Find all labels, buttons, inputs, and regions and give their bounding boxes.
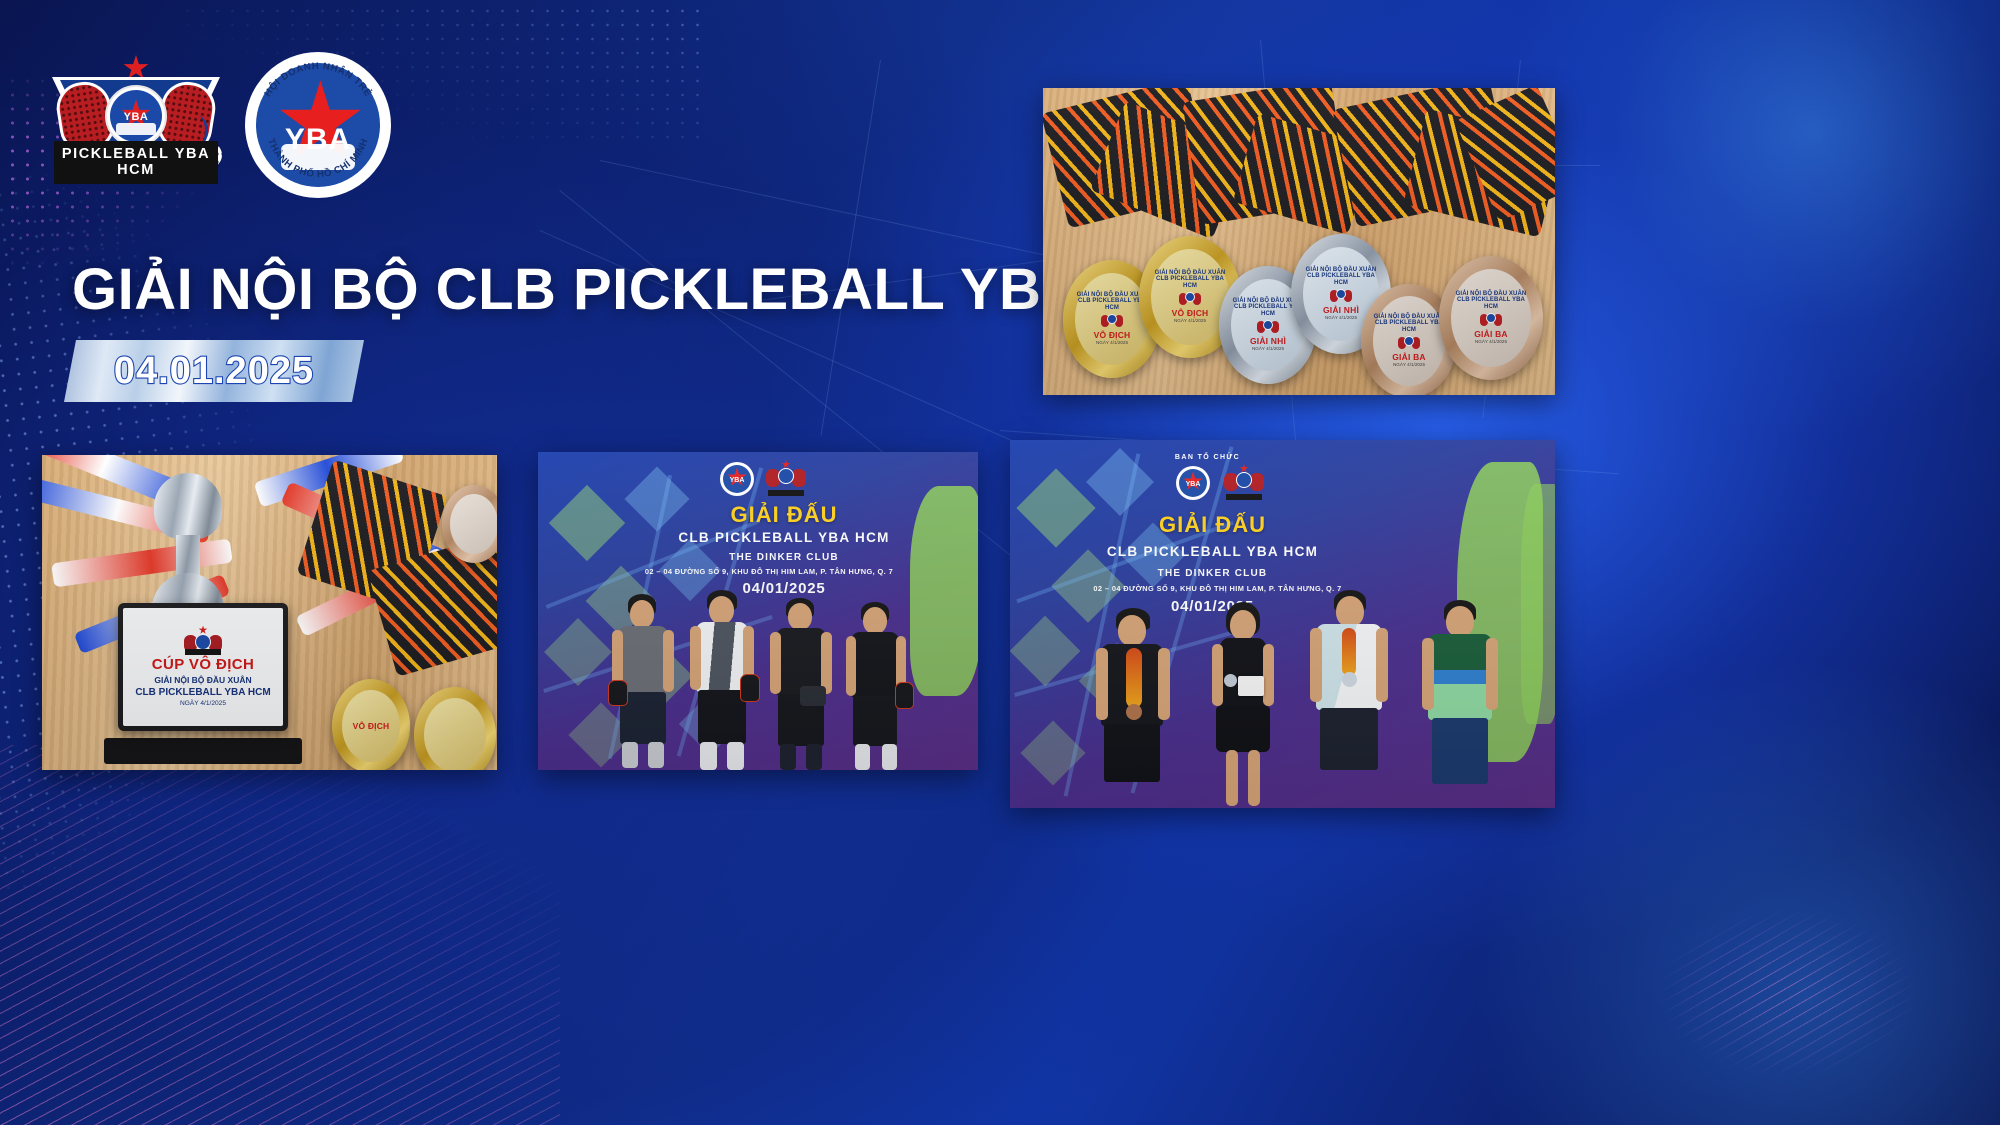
date-badge: 04.01.2025 bbox=[64, 340, 364, 402]
pickleball-paddle bbox=[740, 674, 760, 702]
pickleball-logo-brand: YBA bbox=[110, 111, 162, 123]
medal-rank: GIẢI BA bbox=[1474, 330, 1508, 339]
trophy-plate-line2: GIẢI NỘI BỘ ĐẦU XUÂN bbox=[154, 675, 251, 685]
banner-organizer: BAN TỔ CHỨC bbox=[1010, 454, 1405, 461]
medal-club-text: CLB PICKLEBALL YBA HCM bbox=[1373, 320, 1445, 333]
medal-on-person bbox=[1126, 648, 1142, 708]
medal-emblem bbox=[1257, 319, 1279, 335]
banner-heading: GIẢI ĐẤU bbox=[598, 502, 970, 528]
pickleball-paddle bbox=[895, 682, 914, 709]
medal-rank: VÔ ĐỊCH bbox=[1094, 331, 1131, 340]
team-photo[interactable]: YBA GIẢI ĐẤU CLB PICKLEBALL YBA HCM THE … bbox=[538, 452, 978, 770]
medal-club-text: CLB PICKLEBALL YBA HCM bbox=[1075, 298, 1149, 311]
medal-gold: VÔ ĐỊCH bbox=[332, 679, 410, 770]
yba-logo-icon: YBA bbox=[720, 462, 754, 496]
banner-club: CLB PICKLEBALL YBA HCM bbox=[598, 530, 970, 545]
player-figure bbox=[690, 590, 754, 770]
banner-club: CLB PICKLEBALL YBA HCM bbox=[1010, 544, 1415, 559]
medal-club-text: CLB PICKLEBALL YBA HCM bbox=[1303, 273, 1379, 286]
medal-date: NGÀY 4/1/2025 bbox=[1174, 319, 1206, 324]
hatch-bottom-right bbox=[1590, 855, 1920, 1085]
logo-group: YBA PICKLEBALL YBA HCM YBA HỘI DOANH NHÂ… bbox=[52, 55, 388, 195]
player-figure bbox=[846, 602, 906, 770]
person-figure bbox=[1310, 590, 1388, 808]
medal-rank: GIẢI BA bbox=[1392, 353, 1426, 362]
medal-emblem bbox=[1480, 312, 1502, 328]
person-figure bbox=[1096, 608, 1170, 808]
medal-on-person bbox=[1224, 674, 1237, 687]
yba-hcm-logo: YBA HỘI DOANH NHÂN TRẺ THÀNH PHỐ HỒ CHÍ … bbox=[248, 55, 388, 195]
medal-date: NGÀY 4/1/2025 bbox=[1475, 340, 1507, 345]
trophy-plate-line1: CÚP VÔ ĐỊCH bbox=[152, 656, 254, 673]
poster-canvas: YBA PICKLEBALL YBA HCM YBA HỘI DOANH NHÂ… bbox=[0, 0, 2000, 1125]
date-badge-text: 04.01.2025 bbox=[64, 350, 364, 393]
medal-emblem bbox=[1398, 335, 1420, 351]
yba-logo-top-arc: HỘI DOANH NHÂN TRẺ bbox=[263, 61, 375, 99]
yba-logo-bottom-arc: THÀNH PHỐ HỒ CHÍ MINH bbox=[265, 137, 371, 180]
banner-venue: THE DINKER CLUB bbox=[598, 552, 970, 563]
banner-heading: GIẢI ĐẤU bbox=[1010, 512, 1415, 538]
handshake-icon bbox=[116, 123, 156, 135]
player-figure bbox=[770, 598, 832, 770]
yba-logo-arc-text: HỘI DOANH NHÂN TRẺ THÀNH PHỐ HỒ CHÍ MINH bbox=[248, 55, 388, 195]
pickleball-yba-logo: YBA PICKLEBALL YBA HCM bbox=[52, 55, 220, 180]
medal-rank: GIẢI NHÌ bbox=[1250, 337, 1286, 346]
medal-club-text: CLB PICKLEBALL YBA HCM bbox=[1151, 276, 1229, 289]
medal-bronze: GIẢI NỘI BỘ ĐẦU XUÂN CLB PICKLEBALL YBA … bbox=[1439, 256, 1543, 380]
medal-rank: GIẢI NHÌ bbox=[1323, 306, 1359, 315]
medal-on-person bbox=[1126, 704, 1142, 720]
medal-emblem bbox=[1330, 288, 1352, 304]
trophy-nameplate: CÚP VÔ ĐỊCH GIẢI NỘI BỘ ĐẦU XUÂN CLB PIC… bbox=[118, 603, 288, 731]
player-silhouette bbox=[1521, 484, 1555, 724]
trophy-bowl bbox=[154, 473, 222, 539]
banner-venue: THE DINKER CLUB bbox=[1010, 568, 1415, 579]
medal-date: NGÀY 4/1/2025 bbox=[1393, 363, 1425, 368]
medal-date: NGÀY 4/1/2025 bbox=[1096, 341, 1128, 346]
person-figure bbox=[1422, 600, 1498, 808]
yba-logo-icon: YBA bbox=[1176, 466, 1210, 500]
medals-photo[interactable]: GIẢI NỘI BỘ ĐẦU XUÂN CLB PICKLEBALL YBA … bbox=[1043, 88, 1555, 395]
medal-club-text: CLB PICKLEBALL YBA HCM bbox=[1451, 297, 1531, 310]
hatch-bottom-left bbox=[0, 745, 560, 1125]
trophy-plinth bbox=[104, 738, 302, 764]
medal-emblem bbox=[1179, 291, 1201, 307]
trophy-photo[interactable]: VÔ ĐỊCH CÚP VÔ ĐỊCH GIẢI NỘI BỘ ĐẦU XUÂN… bbox=[42, 455, 497, 770]
top-right-glow bbox=[1500, 0, 2000, 440]
player-figure bbox=[612, 594, 674, 770]
medal-rank: VÔ ĐỊCH bbox=[353, 722, 390, 731]
pickleball-logo-icon bbox=[766, 462, 806, 496]
medal-on-person bbox=[1342, 628, 1356, 676]
trophy-plate-line4: NGÀY 4/1/2025 bbox=[180, 700, 226, 707]
wire-line bbox=[821, 60, 881, 435]
medal-date: NGÀY 4/1/2025 bbox=[1252, 347, 1284, 352]
medal-on-person bbox=[1342, 672, 1357, 687]
medal-emblem bbox=[1101, 313, 1123, 329]
award-envelope bbox=[1238, 676, 1264, 696]
banner-address: 02 – 04 ĐƯỜNG SỐ 9, KHU ĐÔ THỊ HIM LAM, … bbox=[562, 567, 976, 576]
pickleball-logo-icon bbox=[1224, 466, 1264, 500]
pickleball-paddle bbox=[608, 680, 628, 706]
trophy-plate-line3: CLB PICKLEBALL YBA HCM bbox=[135, 687, 270, 698]
person-figure bbox=[1210, 602, 1276, 808]
medal-rank: VÔ ĐỊCH bbox=[1172, 309, 1209, 318]
yba-emblem-circle: YBA bbox=[105, 85, 167, 147]
pickleball-logo-icon bbox=[183, 628, 223, 654]
medal-date: NGÀY 4/1/2025 bbox=[1325, 316, 1357, 321]
pickleball-logo-label: PICKLEBALL YBA HCM bbox=[54, 141, 218, 184]
medal-bronze bbox=[442, 485, 497, 563]
group-photo[interactable]: BAN TỔ CHỨC YBA GIẢI ĐẤU CLB PICKLEBALL … bbox=[1010, 440, 1555, 808]
